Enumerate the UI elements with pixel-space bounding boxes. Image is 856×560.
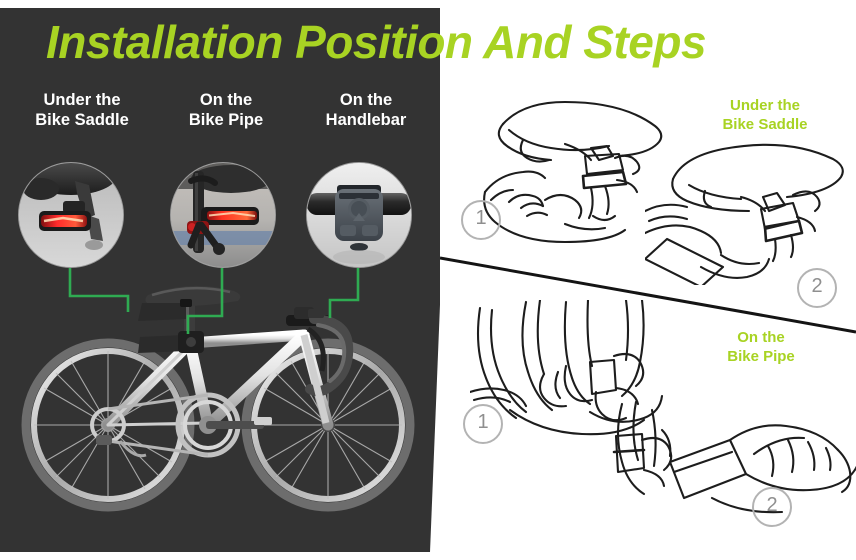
mount-label-pipe-line1: On the (160, 90, 292, 110)
step-badge-saddle-2: 2 (797, 268, 837, 308)
right-steps-panel (440, 0, 856, 560)
thumbnail-on-bike-pipe (170, 162, 276, 268)
section-label-on-bike-pipe-line2: Bike Pipe (686, 347, 836, 366)
step-illustration-pipe-2 (600, 400, 856, 550)
step-badge-pipe-1: 1 (463, 404, 503, 444)
mount-label-handlebar: On the Handlebar (296, 90, 436, 130)
thumbnail-under-saddle (18, 162, 124, 268)
section-label-under-saddle-line2: Bike Saddle (690, 115, 840, 134)
connector-pipe (188, 268, 222, 334)
section-label-under-saddle-line1: Under the (690, 96, 840, 115)
connector-handlebar (330, 268, 358, 318)
step-illustration-saddle-1 (465, 96, 670, 261)
thumbnail-on-handlebar (306, 162, 412, 268)
step-badge-pipe-2: 2 (752, 487, 792, 527)
mount-label-saddle-line1: Under the (12, 90, 152, 110)
mount-label-handlebar-line2: Handlebar (296, 110, 436, 130)
mount-label-saddle-line2: Bike Saddle (12, 110, 152, 130)
connector-lines (0, 0, 452, 544)
connector-saddle (70, 268, 128, 312)
section-label-on-bike-pipe: On the Bike Pipe (686, 328, 836, 366)
mount-label-saddle: Under the Bike Saddle (12, 90, 152, 130)
step-badge-saddle-1: 1 (461, 200, 501, 240)
infographic-page: Installation Position And Steps Under th… (0, 0, 856, 560)
section-label-on-bike-pipe-line1: On the (686, 328, 836, 347)
mount-label-handlebar-line1: On the (296, 90, 436, 110)
mount-label-pipe-line2: Bike Pipe (160, 110, 292, 130)
page-title: Installation Position And Steps (46, 16, 856, 68)
step-illustration-saddle-2 (645, 135, 856, 285)
mount-label-pipe: On the Bike Pipe (160, 90, 292, 130)
section-label-under-saddle: Under the Bike Saddle (690, 96, 840, 134)
